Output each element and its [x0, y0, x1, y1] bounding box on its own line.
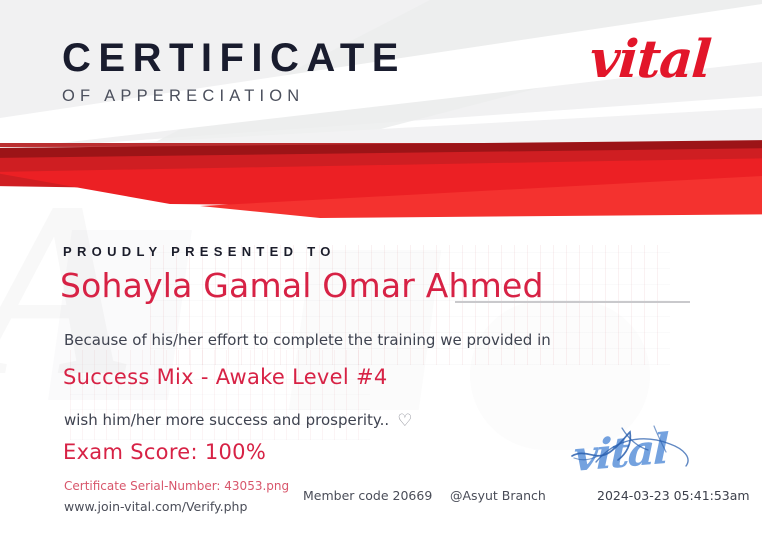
recipient-name: Sohayla Gamal Omar Ahmed [60, 266, 544, 305]
heart-icon: ♡ [397, 411, 412, 431]
issue-date: 2024-03-23 05:41:53am [597, 488, 750, 503]
wish-text-row: wish him/her more success and prosperity… [64, 411, 412, 431]
certificate-title-block: CERTIFICATE OF APPERECIATION [62, 38, 406, 106]
certificate-serial-number: Certificate Serial-Number: 43053.png [64, 479, 289, 493]
vital-logo: vital [588, 34, 712, 86]
recipient-name-rule [455, 301, 690, 303]
red-banner-dark [0, 140, 762, 220]
handwritten-signature-icon [566, 418, 726, 490]
branch-name: @Asyut Branch [450, 488, 546, 503]
verify-url[interactable]: www.join-vital.com/Verify.php [64, 499, 247, 514]
page-title: CERTIFICATE [62, 38, 406, 78]
certificate-document: A CERTIFICATE OF APPERECIATION vital PRO… [0, 0, 762, 539]
course-title: Success Mix - Awake Level #4 [63, 365, 388, 389]
red-banner-bright [0, 150, 762, 230]
red-banner-mid [0, 146, 762, 226]
red-banner-light [200, 160, 762, 230]
reason-text: Because of his/her effort to complete th… [64, 331, 551, 349]
red-banner-edge [0, 143, 762, 147]
member-code: Member code 20669 [303, 488, 432, 503]
presented-to-label: PROUDLY PRESENTED TO [63, 244, 336, 259]
wish-text: wish him/her more success and prosperity… [64, 411, 389, 429]
exam-score: Exam Score: 100% [63, 440, 266, 464]
page-subtitle: OF APPERECIATION [62, 87, 406, 106]
signature-stamp: vital [566, 418, 726, 490]
